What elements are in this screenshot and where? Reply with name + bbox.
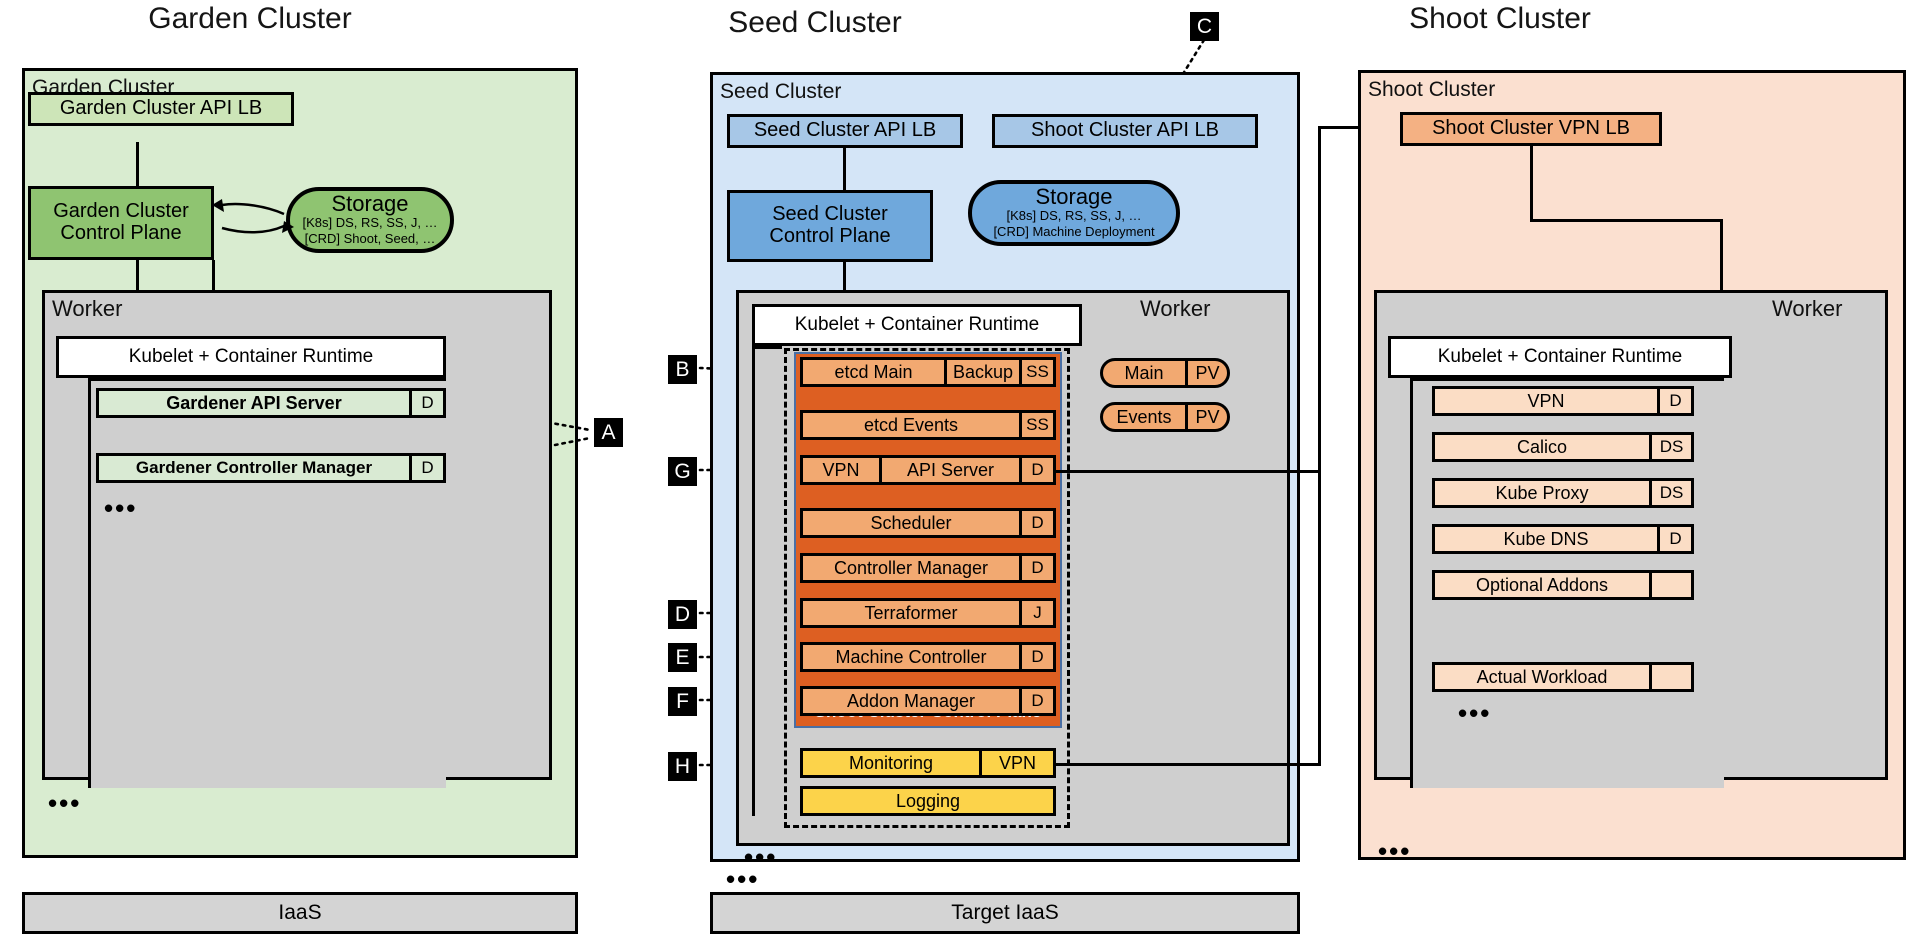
shoot-api-lb[interactable]: Shoot Cluster API LB: [992, 114, 1258, 148]
seed-volume-badge: PV: [1185, 405, 1227, 429]
seed-workers-ellipsis: •••: [726, 866, 759, 892]
seed-component-name: etcd Events: [803, 413, 1019, 437]
shoot-cluster-panel-label: Shoot Cluster: [1368, 78, 1495, 102]
monitoring-vpn-link-v: [1318, 470, 1321, 766]
seed-volume-main[interactable]: Main PV: [1100, 358, 1230, 388]
garden-control-plane-line1: Garden Cluster: [53, 201, 189, 223]
seed-component-addon-manager[interactable]: Addon Manager D: [800, 686, 1056, 716]
shoot-worker-label: Worker: [1772, 296, 1843, 322]
monitoring-vpn-link-h: [1056, 763, 1321, 766]
shoot-component-badge: DS: [1649, 435, 1691, 459]
seed-component-etcd-events[interactable]: etcd Events SS: [800, 410, 1056, 440]
seed-control-plane-line1: Seed Cluster: [772, 204, 888, 226]
garden-component-name: Gardener Controller Manager: [99, 456, 409, 480]
garden-control-plane-line2: Control Plane: [60, 223, 181, 245]
shoot-component-name: Calico: [1435, 435, 1649, 459]
seed-volume-events[interactable]: Events PV: [1100, 402, 1230, 432]
garden-api-lb[interactable]: Garden Cluster API LB: [28, 92, 294, 126]
seed-observability-name: Monitoring: [803, 751, 979, 775]
garden-storage-line1: [K8s] DS, RS, SS, J, …: [302, 215, 437, 231]
seed-component-scheduler[interactable]: Scheduler D: [800, 508, 1056, 538]
garden-kubelet: Kubelet + Container Runtime: [56, 336, 446, 378]
garden-control-plane[interactable]: Garden Cluster Control Plane: [28, 186, 214, 260]
seed-component-badge: D: [1019, 556, 1053, 580]
shoot-component-actual-workload[interactable]: Actual Workload: [1432, 662, 1694, 692]
callout-marker-a[interactable]: A: [594, 418, 623, 447]
shoot-component-optional-addons[interactable]: Optional Addons: [1432, 570, 1694, 600]
seed-component-controller-manager[interactable]: Controller Manager D: [800, 553, 1056, 583]
garden-component-badge: D: [409, 456, 443, 480]
shoot-component-kube-proxy[interactable]: Kube Proxy DS: [1432, 478, 1694, 508]
seed-component-logging[interactable]: Logging: [800, 786, 1056, 816]
seed-component-badge: SS: [1019, 360, 1053, 384]
apiserver-to-shoot-link-h: [1056, 470, 1321, 473]
seed-observability-seg: VPN: [979, 751, 1053, 775]
shoot-api-lb-label: Shoot Cluster API LB: [1031, 120, 1219, 142]
seed-component-name: Machine Controller: [803, 645, 1019, 669]
garden-component-badge: D: [409, 391, 443, 415]
shoot-cluster-title: Shoot Cluster: [1350, 2, 1650, 36]
seed-component-seg: Backup: [944, 360, 1019, 384]
seed-cluster-panel-label: Seed Cluster: [720, 80, 841, 104]
garden-cluster-title: Garden Cluster: [100, 2, 400, 36]
seed-volume-name: Events: [1103, 405, 1185, 429]
seed-component-name: Terraformer: [803, 601, 1019, 625]
seed-cluster-title: Seed Cluster: [665, 6, 965, 40]
seed-observability-name: Logging: [803, 789, 1053, 813]
garden-api-lb-label: Garden Cluster API LB: [60, 98, 262, 120]
seed-control-plane-line2: Control Plane: [769, 226, 890, 248]
seed-component-name: Controller Manager: [803, 556, 1019, 580]
callout-marker-f[interactable]: F: [668, 687, 697, 716]
seed-kubelet-label: Kubelet + Container Runtime: [795, 314, 1040, 336]
garden-storage: Storage [K8s] DS, RS, SS, J, … [CRD] Sho…: [286, 187, 454, 253]
shoot-vpn-lb-label: Shoot Cluster VPN LB: [1432, 118, 1630, 140]
seed-component-kube-apiserver[interactable]: VPN API Server D: [800, 455, 1056, 485]
apiserver-to-shoot-link-v: [1318, 126, 1321, 473]
seed-kubelet: Kubelet + Container Runtime: [752, 304, 1082, 346]
shoot-kubelet: Kubelet + Container Runtime: [1388, 336, 1732, 378]
shoot-component-name: Optional Addons: [1435, 573, 1649, 597]
seed-storage-title: Storage: [1035, 186, 1112, 208]
seed-api-lb-label: Seed Cluster API LB: [754, 120, 936, 142]
shoot-workers-ellipsis: •••: [1378, 838, 1411, 864]
garden-component-gardener-controller-manager[interactable]: Gardener Controller Manager D: [96, 453, 446, 483]
seed-component-seg: API Server: [879, 458, 1019, 482]
seed-component-badge: J: [1019, 601, 1053, 625]
shoot-component-badge: DS: [1649, 481, 1691, 505]
seed-iaas-label: Target IaaS: [951, 901, 1058, 925]
seed-lb-cp-connector: [843, 148, 846, 190]
garden-storage-title: Storage: [331, 193, 408, 215]
garden-workers-ellipsis: •••: [48, 790, 81, 816]
garden-storage-line2: [CRD] Shoot, Seed, …: [305, 231, 436, 247]
shoot-component-name: Kube DNS: [1435, 527, 1657, 551]
shoot-pods-ellipsis: •••: [1458, 700, 1491, 726]
shoot-workload-name: Actual Workload: [1435, 665, 1649, 689]
callout-marker-h[interactable]: H: [668, 752, 697, 781]
garden-iaas-label: IaaS: [278, 901, 321, 925]
seed-component-badge: D: [1019, 511, 1053, 535]
seed-storage-line2: [CRD] Machine Deployment: [993, 224, 1154, 240]
seed-component-badge: D: [1019, 689, 1053, 713]
shoot-component-badge: D: [1657, 389, 1691, 413]
shoot-vpn-lb[interactable]: Shoot Cluster VPN LB: [1400, 112, 1662, 146]
callout-marker-b[interactable]: B: [668, 355, 697, 384]
garden-component-gardener-api-server[interactable]: Gardener API Server D: [96, 388, 446, 418]
seed-component-badge: D: [1019, 645, 1053, 669]
seed-component-terraformer[interactable]: Terraformer J: [800, 598, 1056, 628]
garden-pods-ellipsis: •••: [104, 495, 137, 521]
callout-marker-d[interactable]: D: [668, 600, 697, 629]
shoot-component-kube-dns[interactable]: Kube DNS D: [1432, 524, 1694, 554]
seed-component-machine-controller[interactable]: Machine Controller D: [800, 642, 1056, 672]
seed-component-name: VPN: [803, 458, 879, 482]
seed-component-name: Scheduler: [803, 511, 1019, 535]
seed-api-lb[interactable]: Seed Cluster API LB: [727, 114, 963, 148]
seed-storage-line1: [K8s] DS, RS, SS, J, …: [1006, 208, 1141, 224]
seed-worker-label: Worker: [1140, 296, 1211, 322]
garden-component-name: Gardener API Server: [99, 391, 409, 415]
garden-pod-host: [88, 378, 446, 788]
shoot-component-name: VPN: [1435, 389, 1657, 413]
seed-volume-badge: PV: [1185, 361, 1227, 385]
shoot-vpnlb-connector-h: [1530, 219, 1723, 222]
garden-worker-label: Worker: [52, 296, 123, 322]
shoot-component-badge: D: [1657, 527, 1691, 551]
shoot-component-vpn[interactable]: VPN D: [1432, 386, 1694, 416]
seed-component-name: Addon Manager: [803, 689, 1019, 713]
shoot-vpnlb-connector-v1: [1530, 146, 1533, 222]
shoot-kubelet-label: Kubelet + Container Runtime: [1438, 346, 1683, 368]
garden-lb-cp-connector: [136, 142, 139, 186]
garden-iaas: IaaS: [22, 892, 578, 934]
shoot-component-calico[interactable]: Calico DS: [1432, 432, 1694, 462]
seed-volume-name: Main: [1103, 361, 1185, 385]
seed-pod-host: [752, 346, 782, 816]
garden-kubelet-label: Kubelet + Container Runtime: [129, 346, 374, 368]
shoot-workload-badge: [1649, 665, 1691, 689]
shoot-component-badge: [1649, 573, 1691, 597]
callout-marker-c[interactable]: C: [1190, 12, 1219, 41]
seed-component-badge: D: [1019, 458, 1053, 482]
seed-iaas: Target IaaS: [710, 892, 1300, 934]
seed-control-plane[interactable]: Seed Cluster Control Plane: [727, 190, 933, 262]
seed-component-etcd-main[interactable]: etcd Main Backup SS: [800, 357, 1056, 387]
seed-storage: Storage [K8s] DS, RS, SS, J, … [CRD] Mac…: [968, 180, 1180, 246]
shoot-component-name: Kube Proxy: [1435, 481, 1649, 505]
callout-marker-g[interactable]: G: [668, 457, 697, 486]
seed-component-name: etcd Main: [803, 360, 944, 384]
seed-component-monitoring[interactable]: Monitoring VPN: [800, 748, 1056, 778]
callout-marker-e[interactable]: E: [668, 643, 697, 672]
seed-component-badge: SS: [1019, 413, 1053, 437]
